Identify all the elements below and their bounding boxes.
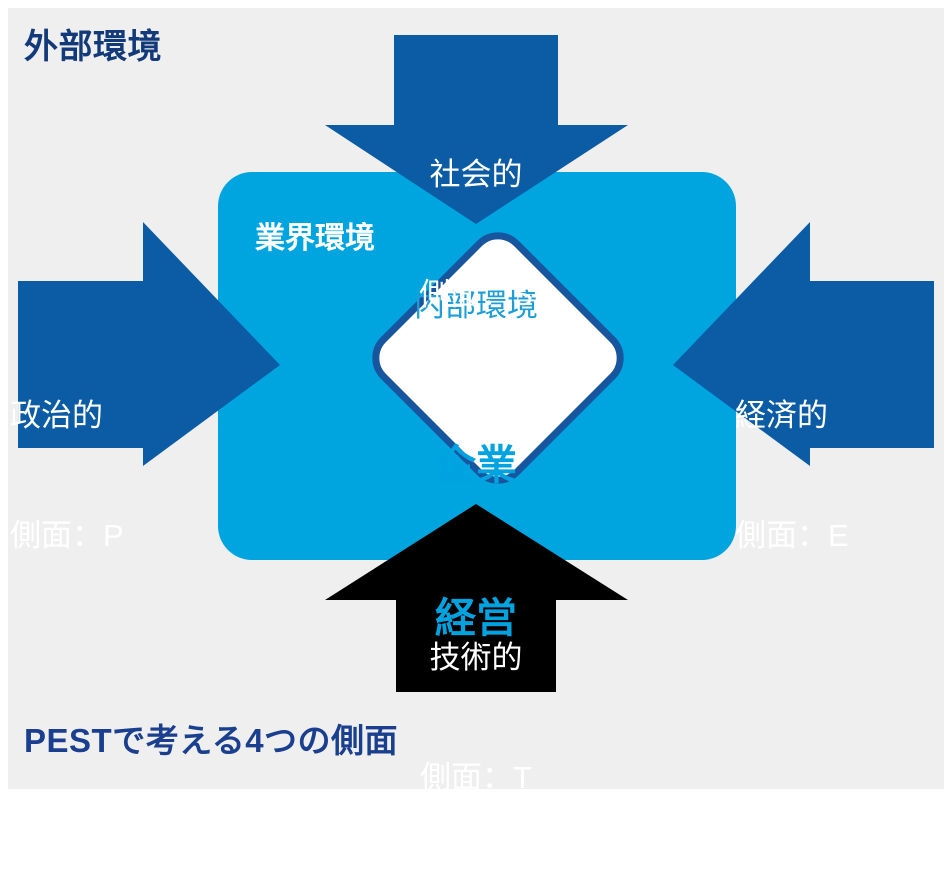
pest-diagram-graphics bbox=[0, 0, 952, 797]
diagram-canvas: 外部環境 業界環境 内部環境 企業 経営 社会的 側面：S 政治的 側面：P 経… bbox=[0, 0, 952, 797]
